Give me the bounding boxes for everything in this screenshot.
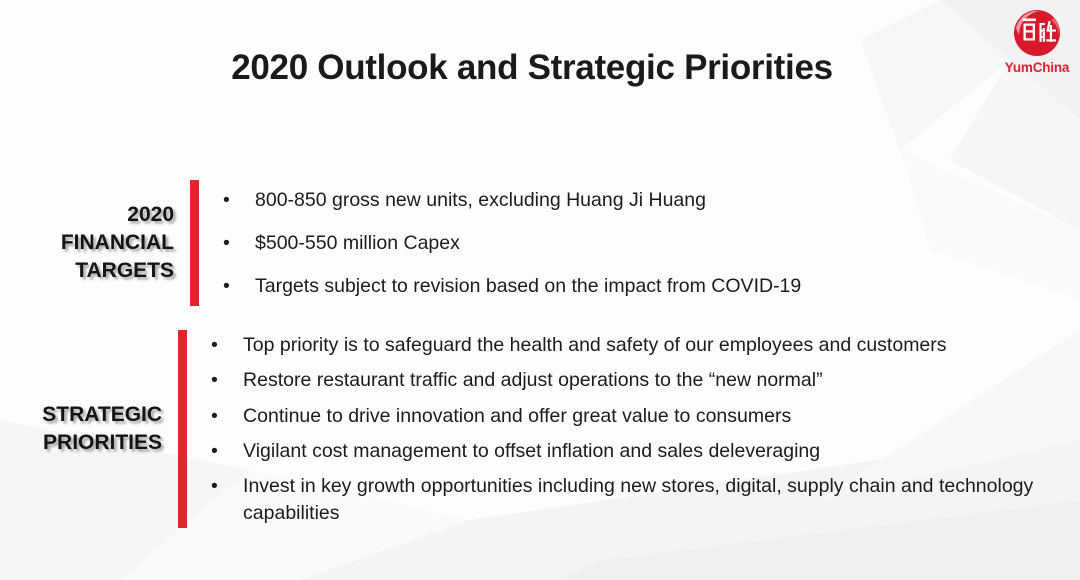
bullet-icon: • — [211, 438, 218, 464]
page-title: 2020 Outlook and Strategic Priorities — [0, 48, 1064, 88]
bullet-icon: • — [223, 273, 230, 299]
list-item-text: Vigilant cost management to offset infla… — [243, 440, 820, 462]
section-label-strategic-priorities: STRATEGIC PRIORITIES — [0, 401, 178, 456]
list-item-text: 800-850 gross new units, excluding Huang… — [255, 189, 706, 211]
list-item-text: Restore restaurant traffic and adjust op… — [243, 369, 823, 391]
list-item: •Vigilant cost management to offset infl… — [187, 438, 1070, 464]
list-item-text: Invest in key growth opportunities inclu… — [243, 475, 1033, 523]
list-item: •800-850 gross new units, excluding Huan… — [199, 187, 1070, 213]
bullet-list-financial-targets: •800-850 gross new units, excluding Huan… — [199, 187, 1070, 300]
list-item-text: Top priority is to safeguard the health … — [243, 334, 946, 356]
section-strategic-priorities: STRATEGIC PRIORITIES •Top priority is to… — [0, 330, 1070, 528]
section-label-financial-targets: 2020 FINANCIAL TARGETS — [0, 201, 190, 284]
list-item: •Top priority is to safeguard the health… — [187, 332, 1070, 358]
list-item-text: $500-550 million Capex — [255, 232, 460, 254]
accent-rule-financial-targets — [190, 180, 199, 306]
bullet-icon: • — [211, 332, 218, 358]
bullet-icon: • — [211, 403, 218, 429]
accent-rule-strategic-priorities — [178, 330, 187, 528]
bullet-icon: • — [211, 367, 218, 393]
list-item: •Continue to drive innovation and offer … — [187, 403, 1070, 429]
list-item: •Invest in key growth opportunities incl… — [187, 473, 1070, 526]
section-financial-targets: 2020 FINANCIAL TARGETS •800-850 gross ne… — [0, 180, 1070, 306]
list-item: •Restore restaurant traffic and adjust o… — [187, 367, 1070, 393]
slide-canvas: YumChina 2020 Outlook and Strategic Prio… — [0, 0, 1080, 580]
list-item-text: Continue to drive innovation and offer g… — [243, 405, 791, 427]
list-item: •$500-550 million Capex — [199, 230, 1070, 256]
bullet-icon: • — [223, 230, 230, 256]
list-item-text: Targets subject to revision based on the… — [255, 275, 801, 297]
bullet-list-strategic-priorities: •Top priority is to safeguard the health… — [187, 332, 1070, 526]
list-item: •Targets subject to revision based on th… — [199, 273, 1070, 299]
bullet-icon: • — [211, 473, 218, 499]
bullet-icon: • — [223, 187, 230, 213]
